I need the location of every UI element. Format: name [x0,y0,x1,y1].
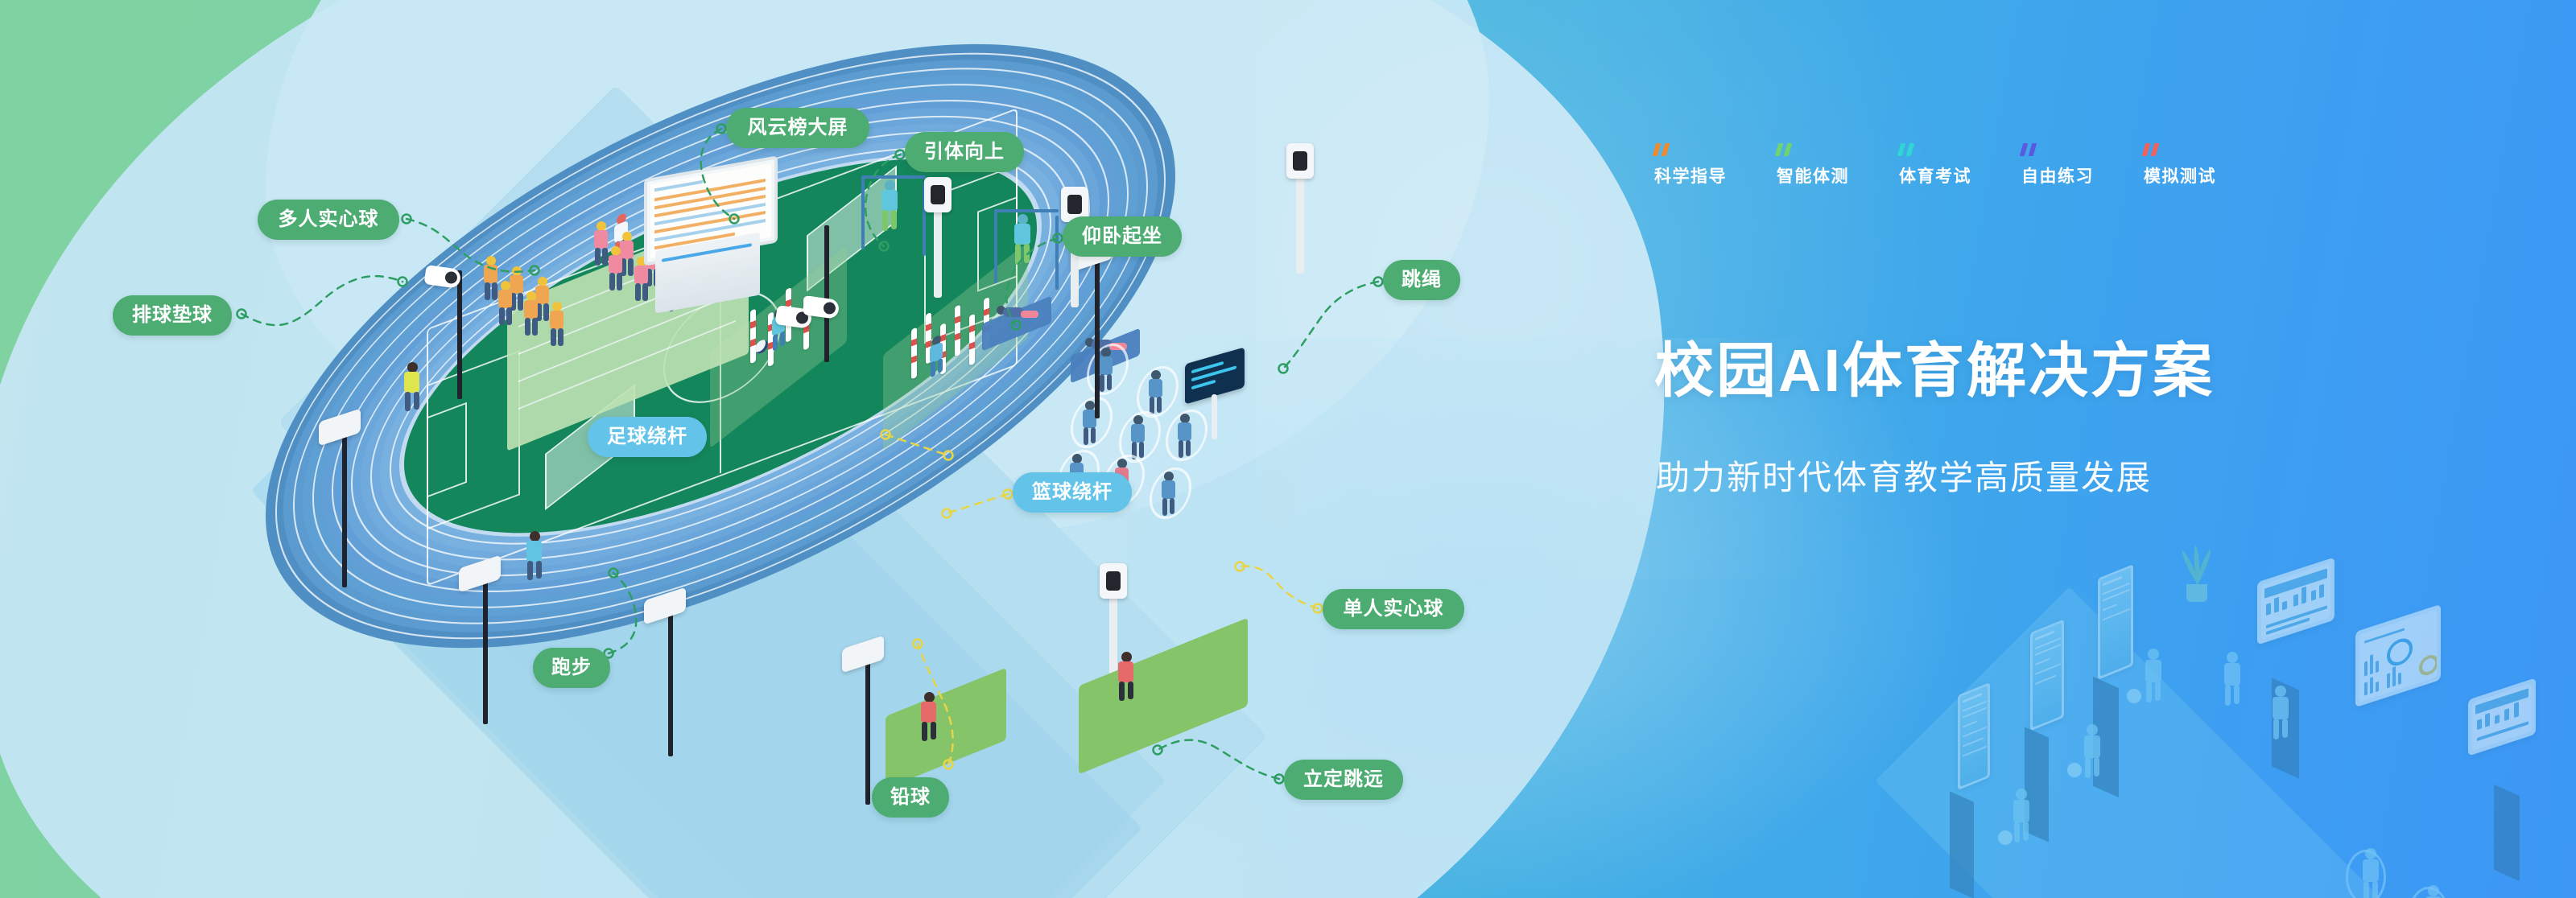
gym-football [1998,830,2013,845]
kiosk-post [1296,177,1304,274]
map-label-pill[interactable]: 风云榜大屏 [726,108,869,148]
map-label-pill[interactable]: 排球垫球 [113,295,232,336]
scoreboard-post [1212,394,1217,439]
feature-tag-label: 科学指导 [1654,167,1727,186]
slalom-pole [969,314,975,366]
kiosk-display [1958,682,1990,790]
map-label-text: 立定跳远 [1303,770,1384,789]
map-label-pill[interactable]: 多人实心球 [258,200,399,240]
map-label-pill[interactable]: 足球绕杆 [588,417,707,457]
kiosk-display [2030,620,2064,731]
double-slash-icon [1899,143,1920,156]
map-label-text: 排球垫球 [132,306,213,325]
feature-tag-label: 模拟测试 [2144,167,2216,186]
jumprope-arc [2346,850,2386,898]
kiosk-display [2098,564,2133,680]
map-label-text: 引体向上 [924,142,1005,162]
wall-analytics-screen [2355,604,2441,707]
map-label-text: 仰卧起坐 [1082,227,1162,246]
double-slash-icon [1777,143,1798,156]
slalom-pole [955,305,960,357]
double-slash-icon [2144,143,2165,156]
feature-tag-2[interactable]: 智能体测 [1777,143,1899,187]
hero-banner: 多人实心球排球垫球风云榜大屏引体向上仰卧起坐跳绳足球绕杆篮球绕杆单人实心球跑步铅… [0,0,2576,898]
feature-tag-1[interactable]: 科学指导 [1654,143,1777,187]
isometric-sports-field-illustration [266,97,1618,805]
map-label-text: 单人实心球 [1344,599,1444,619]
jumprope-arc [2409,887,2449,898]
page-title: 校园AI体育解决方案 [1654,338,2508,403]
camera-mast [457,270,462,399]
map-label-text: 跳绳 [1402,270,1442,290]
kiosk-post [934,209,942,298]
feature-tag-4[interactable]: 自由练习 [2021,143,2144,187]
feature-tag-5[interactable]: 模拟测试 [2144,143,2266,187]
map-label-text: 风云榜大屏 [748,118,848,138]
gym-football [2127,689,2141,703]
connector-node [237,310,246,319]
map-label-pill[interactable]: 立定跳远 [1284,760,1403,800]
hero-content: 科学指导智能体测体育考试自由练习模拟测试 [1654,143,2459,187]
floodlight-mast [342,435,347,587]
kiosk-shadow [1950,791,1974,898]
map-label-pill[interactable]: 仰卧起坐 [1063,216,1182,257]
double-slash-icon [2021,143,2042,156]
kiosk-shadow [2494,785,2520,881]
map-label-pill[interactable]: 引体向上 [905,132,1024,172]
feature-tag-3[interactable]: 体育考试 [1899,143,2021,187]
map-label-text: 足球绕杆 [607,427,687,447]
smart-gym-hall-illustration [1860,531,2576,898]
floodlight-mast [483,579,488,724]
feature-tag-list: 科学指导智能体测体育考试自由练习模拟测试 [1654,143,2459,187]
ai-terminal-kiosk [1286,143,1314,179]
leaderboard-big-screen [644,167,773,304]
map-label-pill[interactable]: 单人实心球 [1323,589,1464,629]
map-label-pill[interactable]: 篮球绕杆 [1013,472,1132,513]
map-label-text: 多人实心球 [279,210,379,229]
map-label-text: 铅球 [890,788,931,807]
floodlight-mast [1095,257,1100,418]
map-label-text: 跑步 [551,658,592,678]
double-slash-icon [1654,143,1675,156]
feature-tag-label: 体育考试 [1899,167,1971,186]
camera-mast [824,225,829,362]
map-label-pill[interactable]: 跑步 [533,648,610,688]
wall-dashboard-screen [2468,678,2536,756]
ai-terminal-kiosk [1100,563,1127,599]
wall-dashboard-screen [2257,557,2334,645]
floodlight-mast [865,660,870,805]
ai-terminal-kiosk [924,177,952,212]
slalom-pole [750,309,756,365]
feature-tag-label: 智能体测 [1777,167,1849,186]
slalom-pole [911,327,917,380]
floodlight-mast [668,612,673,756]
gym-football [2067,763,2082,777]
map-label-pill[interactable]: 跳绳 [1383,260,1460,300]
feature-tag-label: 自由练习 [2021,167,2094,186]
map-label-pill[interactable]: 铅球 [872,777,949,818]
page-subtitle: 助力新时代体育教学高质量发展 [1656,451,2509,500]
map-label-text: 篮球绕杆 [1032,483,1113,502]
